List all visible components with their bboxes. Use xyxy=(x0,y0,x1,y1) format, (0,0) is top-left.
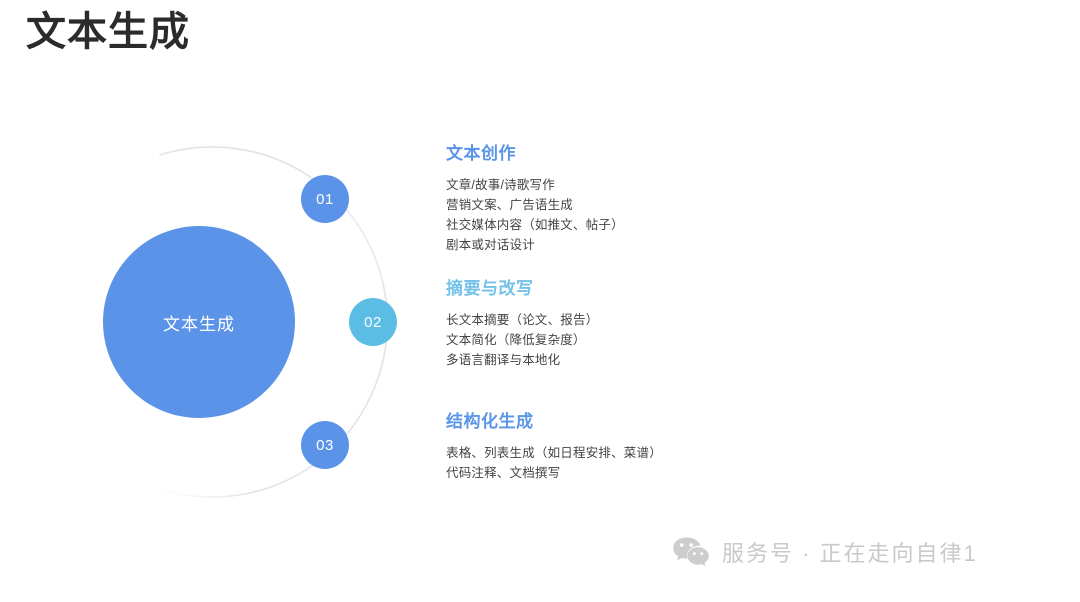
content-column: 文本创作 文章/故事/诗歌写作 营销文案、广告语生成 社交媒体内容（如推文、帖子… xyxy=(446,0,1046,602)
section-line: 多语言翻译与本地化 xyxy=(446,350,1006,370)
section-line: 社交媒体内容（如推文、帖子） xyxy=(446,215,1006,235)
section-line: 文本简化（降低复杂度） xyxy=(446,330,1006,350)
section-block-1: 文本创作 文章/故事/诗歌写作 营销文案、广告语生成 社交媒体内容（如推文、帖子… xyxy=(446,143,1006,255)
section-heading-1: 文本创作 xyxy=(446,143,1006,164)
hub-label: 文本生成 xyxy=(103,310,295,335)
section-lines-2: 长文本摘要（论文、报告） 文本简化（降低复杂度） 多语言翻译与本地化 xyxy=(446,310,1006,370)
orbit-diagram: 文本生成 01 02 03 xyxy=(0,0,440,602)
node-label-02: 02 xyxy=(349,314,397,331)
slide-canvas: 文本生成 文本生成 01 02 03 xyxy=(0,0,1080,602)
section-heading-3: 结构化生成 xyxy=(446,411,1006,432)
wechat-icon xyxy=(672,536,710,568)
section-line: 剧本或对话设计 xyxy=(446,235,1006,255)
watermark-text: 服务号 · 正在走向自律1 xyxy=(722,536,978,568)
section-line: 长文本摘要（论文、报告） xyxy=(446,310,1006,330)
section-block-2: 摘要与改写 长文本摘要（论文、报告） 文本简化（降低复杂度） 多语言翻译与本地化 xyxy=(446,278,1006,370)
section-line: 表格、列表生成（如日程安排、菜谱） xyxy=(446,443,1006,463)
node-label-03: 03 xyxy=(301,437,349,454)
node-label-01: 01 xyxy=(301,191,349,208)
watermark: 服务号 · 正在走向自律1 xyxy=(672,536,978,568)
section-line: 代码注释、文档撰写 xyxy=(446,463,1006,483)
section-block-3: 结构化生成 表格、列表生成（如日程安排、菜谱） 代码注释、文档撰写 xyxy=(446,411,1006,483)
section-line: 营销文案、广告语生成 xyxy=(446,195,1006,215)
diagram-svg xyxy=(0,0,440,602)
section-heading-2: 摘要与改写 xyxy=(446,278,1006,299)
section-lines-3: 表格、列表生成（如日程安排、菜谱） 代码注释、文档撰写 xyxy=(446,443,1006,483)
section-line: 文章/故事/诗歌写作 xyxy=(446,175,1006,195)
section-lines-1: 文章/故事/诗歌写作 营销文案、广告语生成 社交媒体内容（如推文、帖子） 剧本或… xyxy=(446,175,1006,255)
